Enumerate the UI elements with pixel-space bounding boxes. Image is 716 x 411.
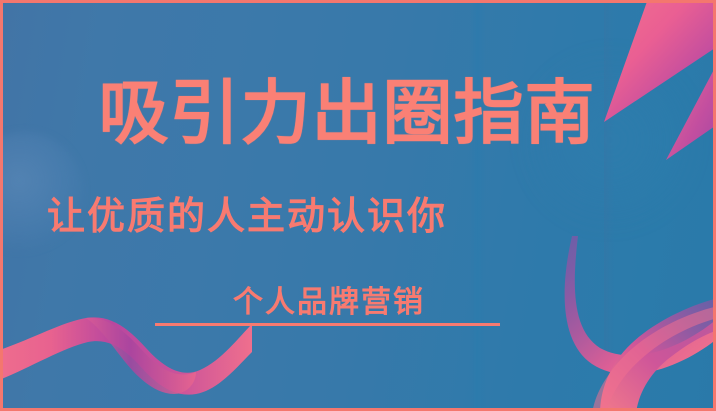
promotional-poster: 吸引力出圈指南 让优质的人主动认识你 个人品牌营销 bbox=[0, 0, 716, 411]
poster-tagline: 个人品牌营销 bbox=[0, 288, 716, 318]
poster-text: 吸引力出圈指南 让优质的人主动认识你 个人品牌营销 bbox=[0, 0, 716, 411]
poster-subtitle: 让优质的人主动认识你 bbox=[0, 198, 716, 236]
tagline-underline bbox=[155, 323, 500, 326]
poster-title: 吸引力出圈指南 bbox=[0, 78, 716, 148]
